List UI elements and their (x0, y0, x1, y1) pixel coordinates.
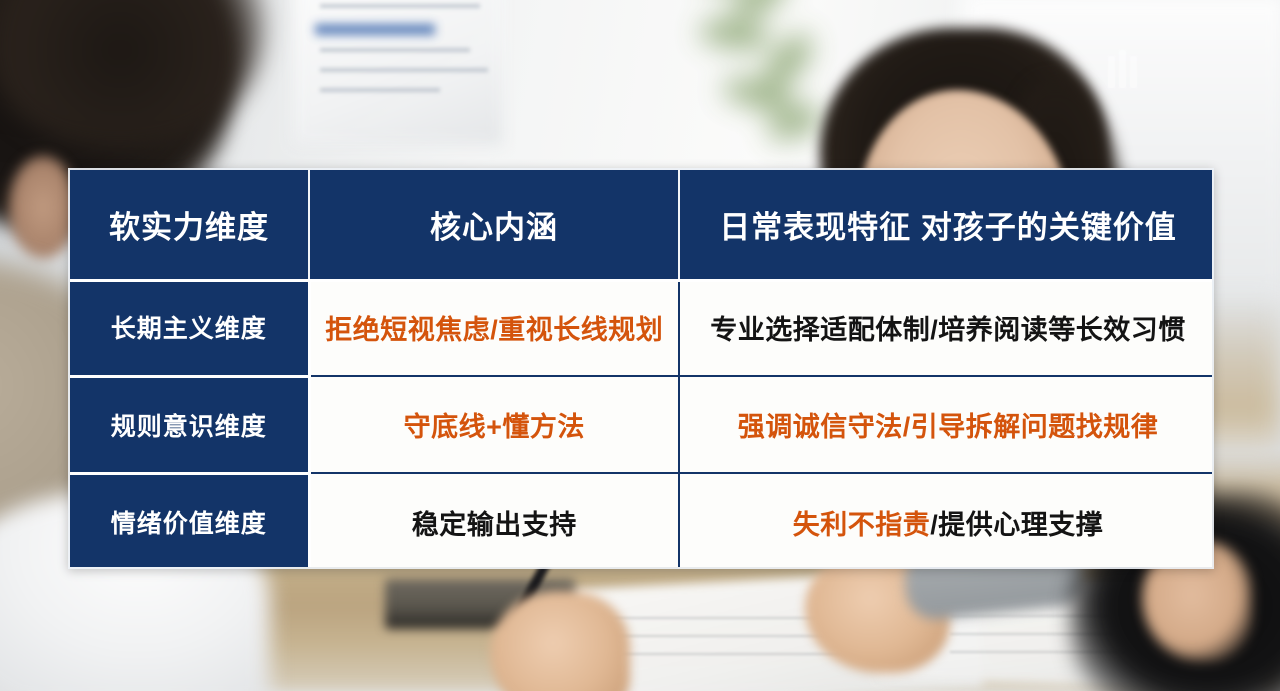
cell-core-text: 守底线+懂方法 (404, 412, 585, 442)
header-cell-core: 核心内涵 (309, 170, 679, 279)
table: 软实力维度 核心内涵 日常表现特征 对孩子的关键价值 长期主义维度 拒绝短视焦虑… (70, 170, 1214, 569)
cell-value-text-highlight: 失利不指责 (793, 510, 931, 540)
cell-core: 守底线+懂方法 (309, 376, 679, 473)
cell-dimension: 长期主义维度 (70, 279, 309, 376)
header-cell-dimension: 软实力维度 (70, 170, 309, 279)
table-row: 规则意识维度 守底线+懂方法 强调诚信守法/引导拆解问题找规律 (70, 376, 1214, 473)
screenshot-root: 软实力维度 核心内涵 日常表现特征 对孩子的关键价值 长期主义维度 拒绝短视焦虑… (0, 0, 1280, 691)
table-row: 长期主义维度 拒绝短视焦虑/重视长线规划 专业选择适配体制/培养阅读等长效习惯 (70, 279, 1214, 376)
hand-writing-left (490, 591, 630, 691)
cell-value-text: 强调诚信守法/引导拆解问题找规律 (738, 412, 1159, 442)
cell-value: 专业选择适配体制/培养阅读等长效习惯 (679, 279, 1214, 376)
cell-dimension: 情绪价值维度 (70, 473, 309, 569)
header-cell-value: 日常表现特征 对孩子的关键价值 (679, 170, 1214, 279)
soft-skills-table: 软实力维度 核心内涵 日常表现特征 对孩子的关键价值 长期主义维度 拒绝短视焦虑… (68, 168, 1214, 569)
cell-core-text: 稳定输出支持 (412, 510, 577, 540)
cell-value-text: /提供心理支撑 (930, 510, 1103, 540)
table-header-row: 软实力维度 核心内涵 日常表现特征 对孩子的关键价值 (70, 170, 1214, 279)
cell-value: 失利不指责/提供心理支撑 (679, 473, 1214, 569)
cell-value-text: 专业选择适配体制/培养阅读等长效习惯 (710, 315, 1186, 345)
cell-value: 强调诚信守法/引导拆解问题找规律 (679, 376, 1214, 473)
cell-dimension: 规则意识维度 (70, 376, 309, 473)
cell-core: 稳定输出支持 (309, 473, 679, 569)
cell-core: 拒绝短视焦虑/重视长线规划 (309, 279, 679, 376)
table-row: 情绪价值维度 稳定输出支持 失利不指责/提供心理支撑 (70, 473, 1214, 569)
cell-core-text: 拒绝短视焦虑/重视长线规划 (325, 315, 663, 345)
